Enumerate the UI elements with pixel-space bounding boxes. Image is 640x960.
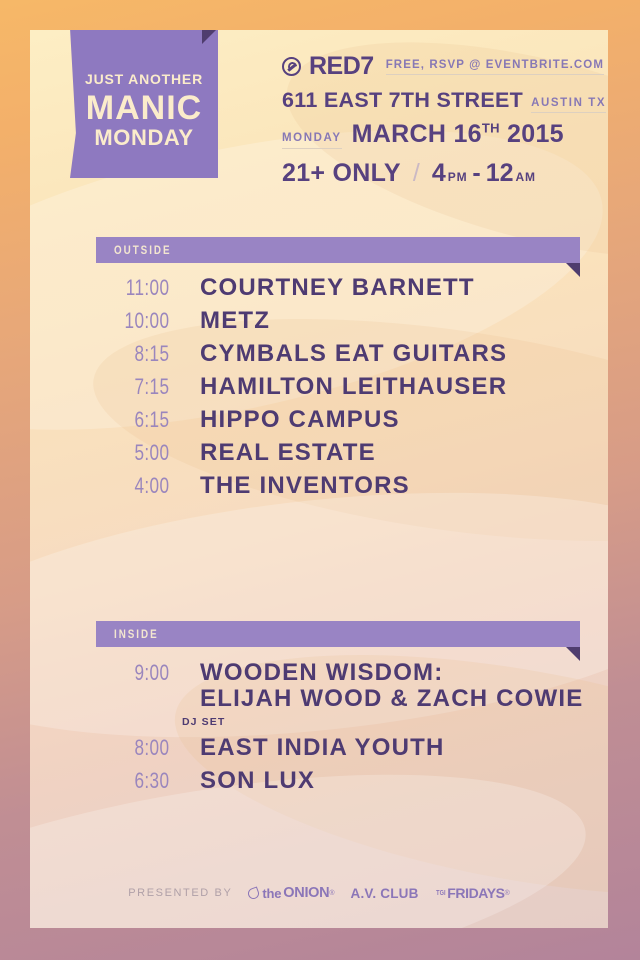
sponsor-trademark: ® (505, 890, 510, 897)
slot-time: 6:15 (105, 407, 172, 433)
section-banner-outside: OUTSIDE (96, 237, 580, 263)
slot-time: 6:30 (105, 768, 172, 794)
street-address: 611 EAST 7TH STREET (282, 88, 523, 113)
slot-time: 10:00 (105, 308, 172, 334)
slot-time: 7:15 (105, 374, 172, 400)
lineup-slot: 8:00EAST INDIA YOUTH (96, 735, 596, 761)
slot-text: HAMILTON LEITHAUSER (182, 374, 507, 400)
slot-artist-name: WOODEN WISDOM:ELIJAH WOOD & ZACH COWIE (200, 660, 583, 712)
poster-title: JUST ANOTHER MANIC MONDAY (70, 40, 218, 180)
slot-text: COURTNEY BARNETT (182, 275, 475, 301)
sponsor-prefix: TGI (436, 890, 445, 897)
start-time: 4 (432, 159, 446, 188)
slot-text: METZ (182, 308, 270, 334)
sponsor-trademark: ® (329, 890, 334, 897)
slot-time: 8:00 (105, 735, 172, 761)
event-date: MARCH 16TH 2015 (352, 120, 564, 149)
slot-artist-name: COURTNEY BARNETT (200, 275, 475, 301)
slot-artist-name: EAST INDIA YOUTH (200, 735, 445, 761)
day-of-week: MONDAY (282, 132, 342, 149)
presented-by-label: PRESENTED BY (128, 887, 232, 899)
sponsor-name: A.V. CLUB (351, 886, 419, 901)
lineup-slot: 4:00THE INVENTORS (96, 473, 596, 499)
slot-subtitle: DJ SET (182, 716, 583, 728)
lineup-slot: 11:00COURTNEY BARNETT (96, 275, 596, 301)
lineup-slot: 7:15HAMILTON LEITHAUSER (96, 374, 596, 400)
onion-leaf-icon (247, 886, 261, 900)
slot-text: WOODEN WISDOM:ELIJAH WOOD & ZACH COWIEDJ… (182, 660, 583, 728)
sponsor-footer: PRESENTED BY the ONION ® A.V. CLUB TGI F… (30, 885, 608, 901)
age-restriction: 21+ ONLY (282, 159, 401, 188)
sponsor-tgi-fridays[interactable]: TGI FRIDAYS ® (435, 885, 510, 901)
festival-poster: JUST ANOTHER MANIC MONDAY RED7 FREE, RSV… (0, 0, 640, 960)
slot-time: 4:00 (105, 473, 172, 499)
slot-text: SON LUX (182, 768, 315, 794)
event-details: RED7 FREE, RSVP @ EVENTBRITE.COM 611 EAS… (282, 52, 608, 188)
slot-time: 5:00 (105, 440, 172, 466)
sponsor-name: FRIDAYS (447, 885, 504, 901)
slot-artist-name: METZ (200, 308, 270, 334)
date-row: MONDAY MARCH 16TH 2015 (282, 120, 608, 149)
slot-text: EAST INDIA YOUTH (182, 735, 445, 761)
sponsor-the-onion[interactable]: the ONION ® (248, 885, 334, 901)
slot-text: REAL ESTATE (182, 440, 376, 466)
venue-row: RED7 FREE, RSVP @ EVENTBRITE.COM (282, 52, 608, 81)
event-year: 2015 (507, 120, 564, 148)
lineup-inside: 9:00WOODEN WISDOM:ELIJAH WOOD & ZACH COW… (96, 660, 596, 801)
city-state: AUSTIN TX (531, 97, 606, 113)
lineup-slot: 8:15CYMBALS EAT GUITARS (96, 341, 596, 367)
lineup-outside: 11:00COURTNEY BARNETT10:00METZ8:15CYMBAL… (96, 275, 596, 506)
lineup-slot: 10:00METZ (96, 308, 596, 334)
end-time: 12 (486, 159, 514, 188)
slot-time: 11:00 (105, 275, 172, 301)
slot-artist-name: CYMBALS EAT GUITARS (200, 341, 507, 367)
slot-time: 9:00 (105, 660, 172, 686)
slot-artist-name: HIPPO CAMPUS (200, 407, 400, 433)
age-and-time-row: 21+ ONLY / 4PM - 12AM (282, 159, 608, 188)
slot-artist-name: SON LUX (200, 768, 315, 794)
separator: / (413, 159, 420, 188)
section-label: OUTSIDE (114, 243, 172, 257)
slot-text: THE INVENTORS (182, 473, 410, 499)
start-meridiem: PM (448, 170, 468, 184)
lineup-slot: 9:00WOODEN WISDOM:ELIJAH WOOD & ZACH COW… (96, 660, 596, 728)
address-row: 611 EAST 7TH STREET AUSTIN TX (282, 88, 608, 113)
slot-text: HIPPO CAMPUS (182, 407, 400, 433)
slot-time: 8:15 (105, 341, 172, 367)
title-line-1: JUST ANOTHER (85, 72, 203, 86)
slot-text: CYMBALS EAT GUITARS (182, 341, 507, 367)
month-day: MARCH 16 (352, 120, 482, 148)
poster-inner-panel: JUST ANOTHER MANIC MONDAY RED7 FREE, RSV… (30, 30, 608, 928)
title-line-3: MONDAY (94, 127, 193, 149)
section-banner-inside: INSIDE (96, 621, 580, 647)
lineup-slot: 5:00REAL ESTATE (96, 440, 596, 466)
lineup-slot: 6:30SON LUX (96, 768, 596, 794)
slot-artist-name: REAL ESTATE (200, 440, 376, 466)
banner-fold-icon (566, 647, 580, 661)
sponsor-name: ONION (283, 885, 329, 901)
lineup-slot: 6:15HIPPO CAMPUS (96, 407, 596, 433)
venue-name: RED7 (309, 52, 374, 81)
sponsor-prefix: the (262, 886, 281, 901)
day-suffix: TH (482, 121, 500, 136)
slot-artist-name: HAMILTON LEITHAUSER (200, 374, 507, 400)
section-label: INSIDE (114, 627, 159, 641)
time-dash: - (472, 159, 480, 188)
rsvp-link[interactable]: FREE, RSVP @ EVENTBRITE.COM (386, 59, 604, 75)
sponsor-av-club[interactable]: A.V. CLUB (351, 886, 419, 901)
slot-artist-name: THE INVENTORS (200, 473, 410, 499)
title-line-2: MANIC (86, 91, 202, 125)
end-meridiem: AM (516, 170, 536, 184)
red7-circle-mark-icon (282, 57, 301, 76)
